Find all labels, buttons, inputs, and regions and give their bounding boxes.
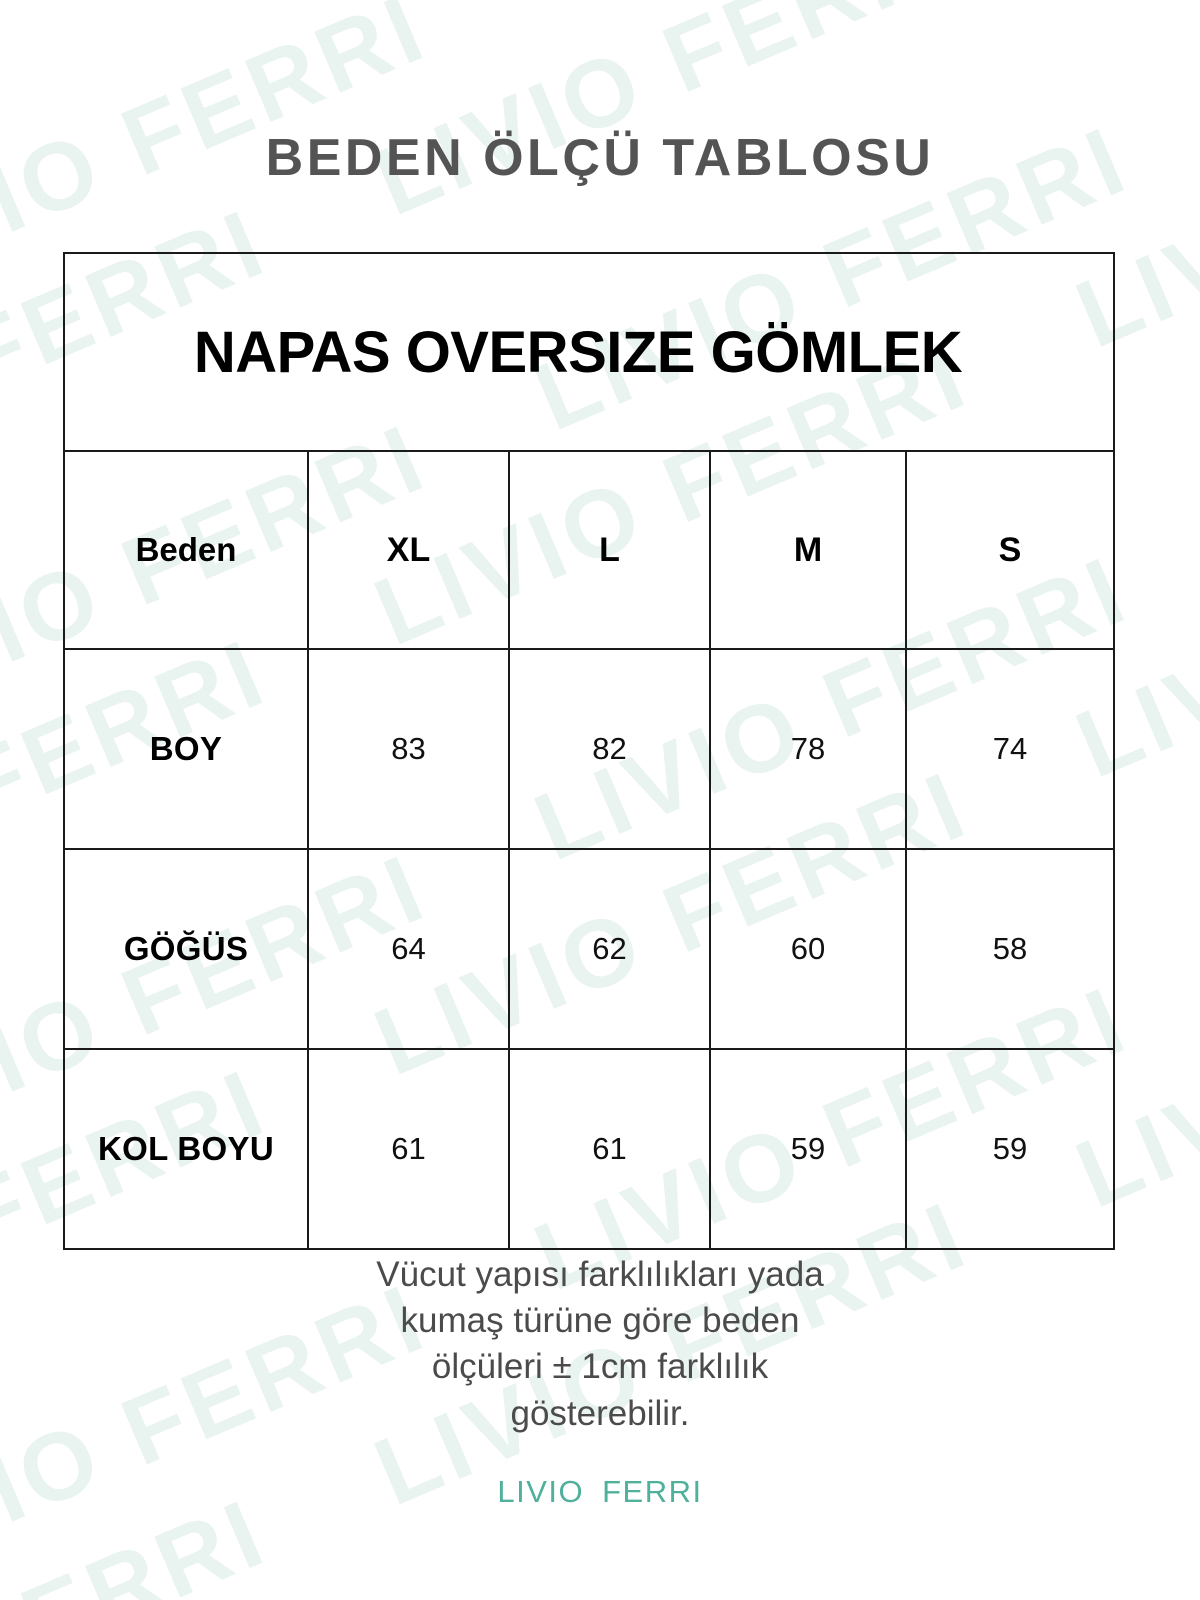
brand-word-ferri: FERRI [602,1474,703,1510]
header-size-l: L [509,451,710,649]
table-row: BOY 83 82 78 74 [64,649,1114,849]
brand-logo: LIVIOFERRI [0,1474,1200,1510]
cell-kol-boyu-m: 59 [710,1049,906,1249]
cell-gogus-s: 58 [906,849,1114,1049]
disclaimer-text: Vücut yapısı farklılıkları yada kumaş tü… [0,1252,1200,1437]
cell-boy-s: 74 [906,649,1114,849]
disclaimer-line-3: ölçüleri ± 1cm farklılık [0,1344,1200,1390]
disclaimer-line-1: Vücut yapısı farklılıkları yada [0,1252,1200,1298]
disclaimer-line-4: gösterebilir. [0,1391,1200,1437]
header-size-s: S [906,451,1114,649]
cell-gogus-l: 62 [509,849,710,1049]
disclaimer-line-2: kumaş türüne göre beden [0,1298,1200,1344]
header-size-xl: XL [308,451,509,649]
header-beden: Beden [64,451,308,649]
cell-kol-boyu-l: 61 [509,1049,710,1249]
cell-boy-l: 82 [509,649,710,849]
cell-gogus-m: 60 [710,849,906,1049]
table-row: GÖĞÜS 64 62 60 58 [64,849,1114,1049]
cell-kol-boyu-xl: 61 [308,1049,509,1249]
row-label-kol-boyu: KOL BOYU [64,1049,308,1249]
header-size-m: M [710,451,906,649]
row-label-gogus: GÖĞÜS [64,849,308,1049]
size-chart-table: NAPAS OVERSIZE GÖMLEK Beden XL L M S BOY… [63,252,1115,1250]
cell-kol-boyu-s: 59 [906,1049,1114,1249]
cell-gogus-xl: 64 [308,849,509,1049]
table-header-row: Beden XL L M S [64,451,1114,649]
product-title-row: NAPAS OVERSIZE GÖMLEK [64,253,1114,451]
cell-boy-xl: 83 [308,649,509,849]
page-title: BEDEN ÖLÇÜ TABLOSU [0,128,1200,188]
row-label-boy: BOY [64,649,308,849]
brand-word-livio: LIVIO [497,1474,584,1510]
size-chart-page: BEDEN ÖLÇÜ TABLOSU NAPAS OVERSIZE GÖMLEK… [0,0,1200,1600]
product-title: NAPAS OVERSIZE GÖMLEK [194,320,984,385]
cell-boy-m: 78 [710,649,906,849]
product-title-cell: NAPAS OVERSIZE GÖMLEK [64,253,1114,451]
table-row: KOL BOYU 61 61 59 59 [64,1049,1114,1249]
